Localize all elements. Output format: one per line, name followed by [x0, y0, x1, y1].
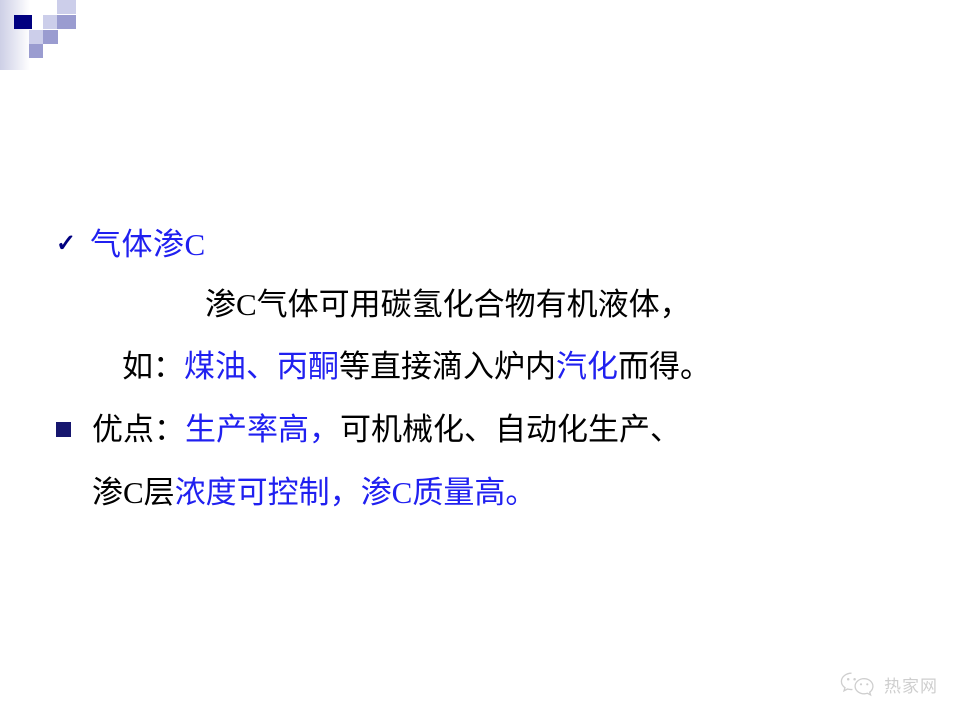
header-square-mid-2	[43, 30, 58, 44]
advantage2-segment-2: 浓度可控制，	[175, 477, 361, 508]
header-left-fade	[0, 0, 30, 70]
slide-body: ✓ 气体渗C 渗C气体可用碳氢化合物有机液体， 如： 煤油、丙酮 等直接滴入炉内…	[0, 215, 960, 523]
sentence1-segment-1: 渗C气体可用碳氢化合物有机液体，	[205, 289, 691, 320]
paragraph-sentence-2: 如： 煤油、丙酮 等直接滴入炉内 汽化 而得。	[122, 335, 960, 397]
sentence2-segment-3: 等直接滴入炉内	[339, 351, 556, 382]
advantage2-segment-3: 渗C质量高。	[361, 477, 537, 508]
sentence2-segment-2: 煤油、丙酮	[184, 351, 339, 382]
bullet-item-heading: ✓ 气体渗C	[56, 215, 960, 273]
watermark-label: 热家网	[884, 672, 938, 697]
sentence2-segment-1: 如：	[122, 351, 184, 382]
advantage1-segment-2: 生产率高，	[185, 414, 340, 445]
sentence2-segment-5: 而得。	[618, 351, 711, 382]
sentence2-segment-4: 汽化	[556, 351, 618, 382]
header-square-light-2	[43, 15, 58, 29]
advantage2-segment-1: 渗C层	[92, 477, 175, 508]
checkmark-icon: ✓	[56, 232, 90, 256]
bullet-item-advantage: 优点： 生产率高， 可机械化、自动化生产、	[56, 397, 960, 461]
square-bullet-icon	[56, 422, 92, 437]
watermark: 热家网	[839, 670, 938, 698]
wechat-icon	[839, 670, 877, 698]
header-square-light-3	[29, 30, 44, 44]
header-square-dark-1	[14, 15, 32, 29]
header-square-light-1	[57, 0, 76, 14]
header-gradient-bar	[58, 15, 960, 44]
paragraph-sentence-1: 渗C气体可用碳氢化合物有机液体，	[205, 273, 960, 335]
header-square-mid-3	[29, 44, 43, 58]
paragraph-advantage-2: 渗C层 浓度可控制， 渗C质量高。	[92, 461, 960, 523]
slide-header	[0, 0, 960, 70]
heading-text: 气体渗C	[90, 229, 206, 260]
advantage1-segment-3: 可机械化、自动化生产、	[340, 414, 681, 445]
advantage1-segment-1: 优点：	[92, 414, 185, 445]
header-square-mid-1	[57, 15, 76, 29]
